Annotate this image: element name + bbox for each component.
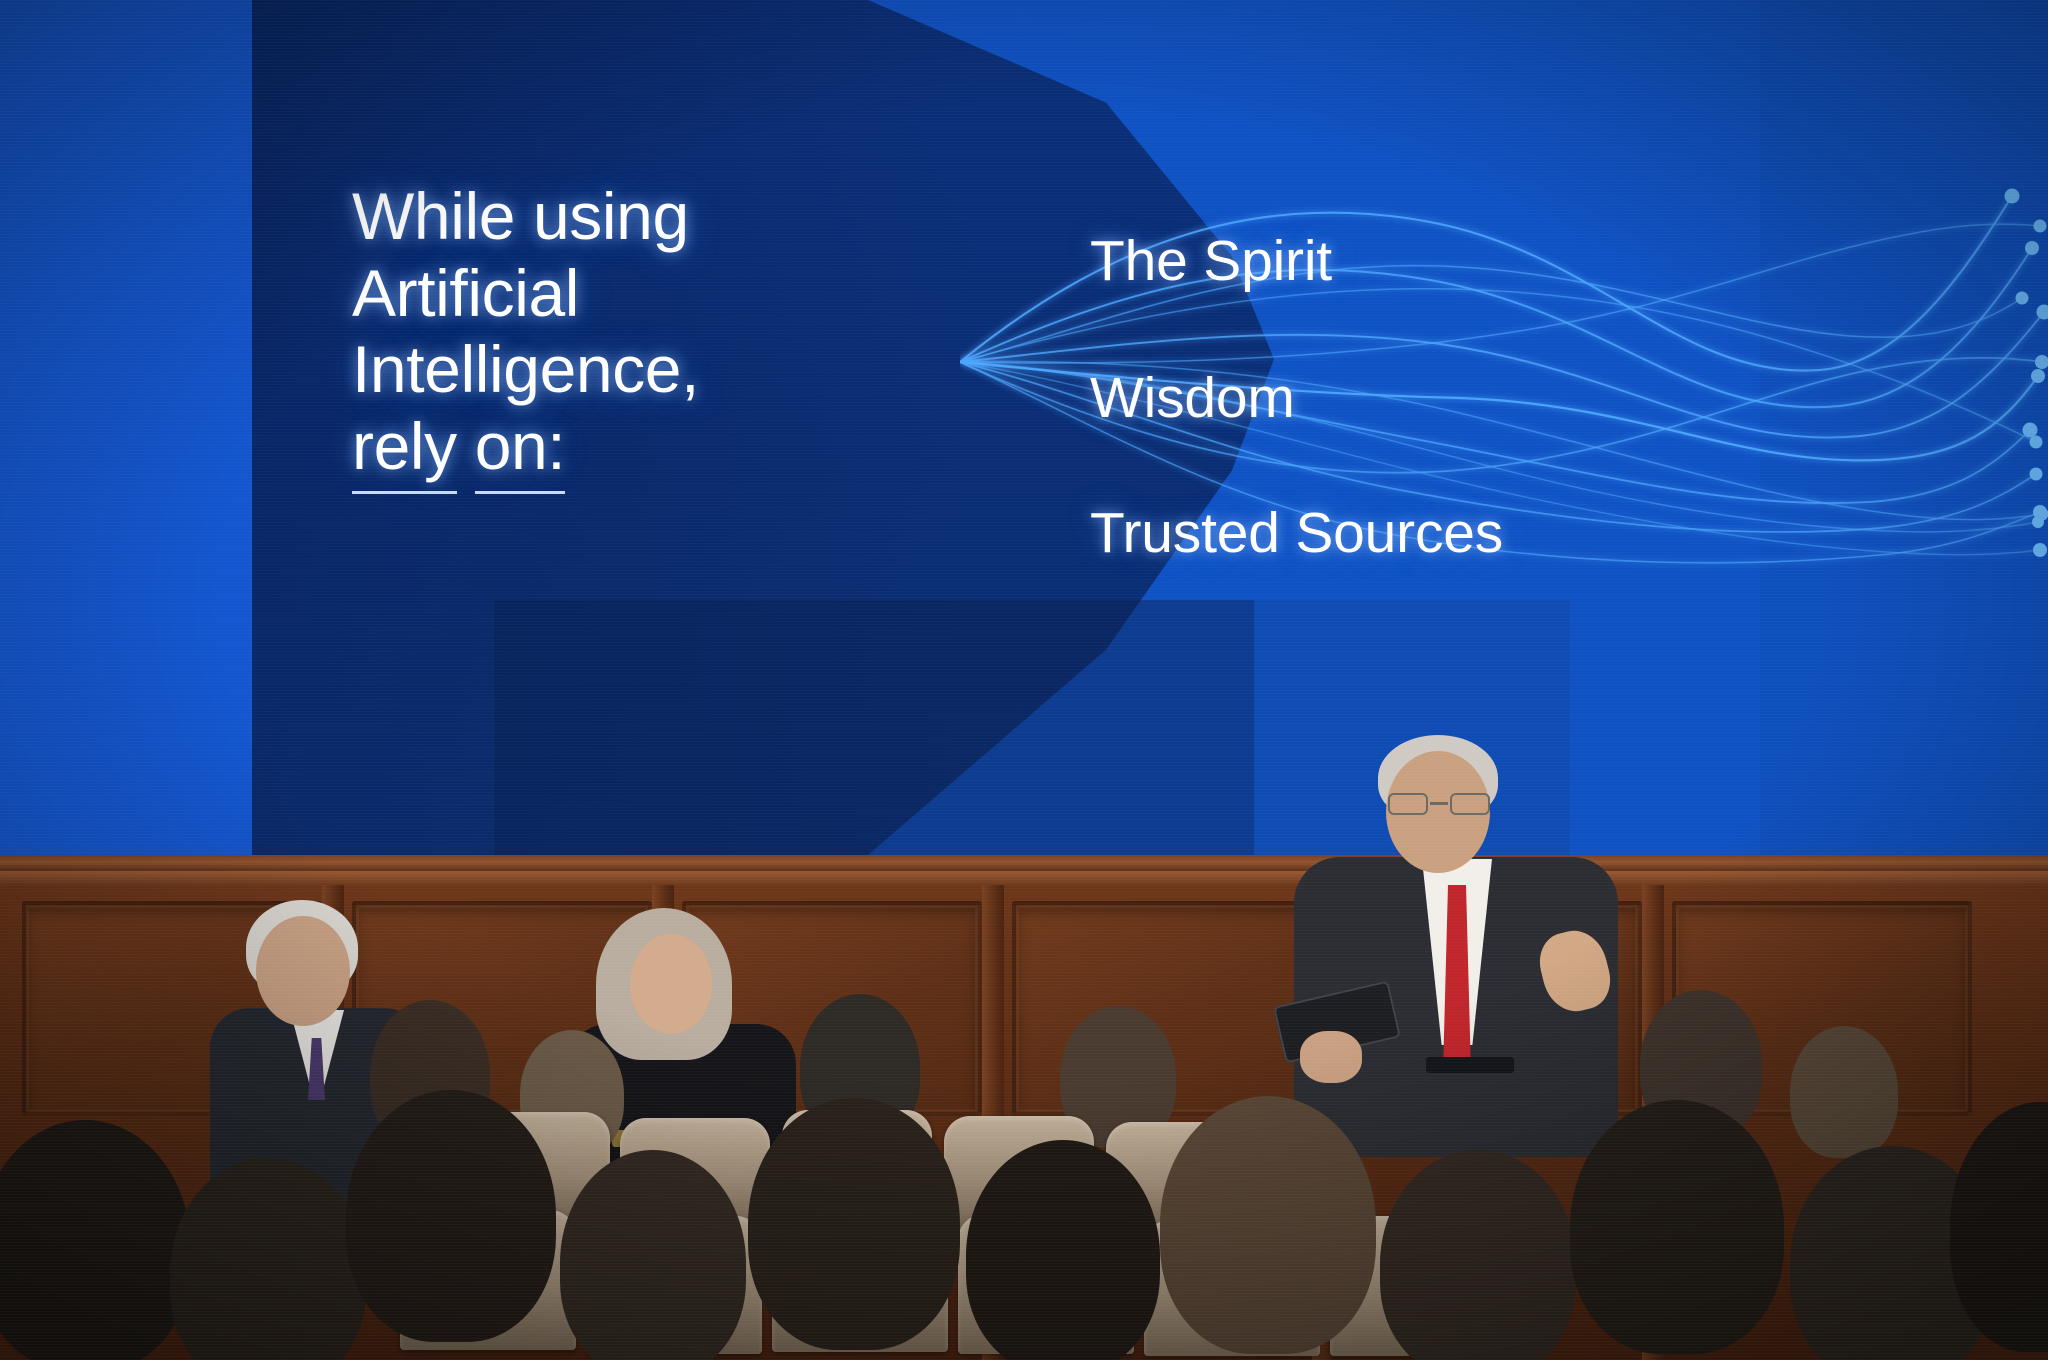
wall-shelf [0,871,2048,885]
wall-top-rail [0,855,2048,871]
prompt-underlined-on: on: [475,408,566,495]
prompt-line-1: While using [352,178,972,255]
foreground-head [1570,1100,1784,1354]
prompt-line-4: rely on: [352,408,972,495]
prompt-underlined-rely: rely [352,408,457,495]
speaker-glasses [1386,793,1492,815]
foreground-head [748,1098,960,1350]
slide-prompt-text: While using Artificial Intelligence, rel… [352,178,972,494]
slide-band-4 [1760,0,2048,855]
slide-answer-wisdom: Wisdom [1090,365,1295,431]
projection-screen: While using Artificial Intelligence, rel… [0,0,2048,855]
foreground-head [966,1140,1160,1360]
foreground-head [346,1090,556,1342]
prompt-line-3: Intelligence, [352,331,972,408]
foreground-head [560,1150,746,1360]
presentation-photo: While using Artificial Intelligence, rel… [0,0,2048,1360]
slide-answer-trusted-sources: Trusted Sources [1090,500,1503,566]
foreground-head [1160,1096,1376,1354]
slide-answer-the-spirit: The Spirit [1090,228,1332,294]
slide-band-1 [0,0,255,855]
slide-lower-block [494,600,1254,855]
prompt-word-gap [457,409,475,483]
prompt-line-2: Artificial [352,255,972,332]
